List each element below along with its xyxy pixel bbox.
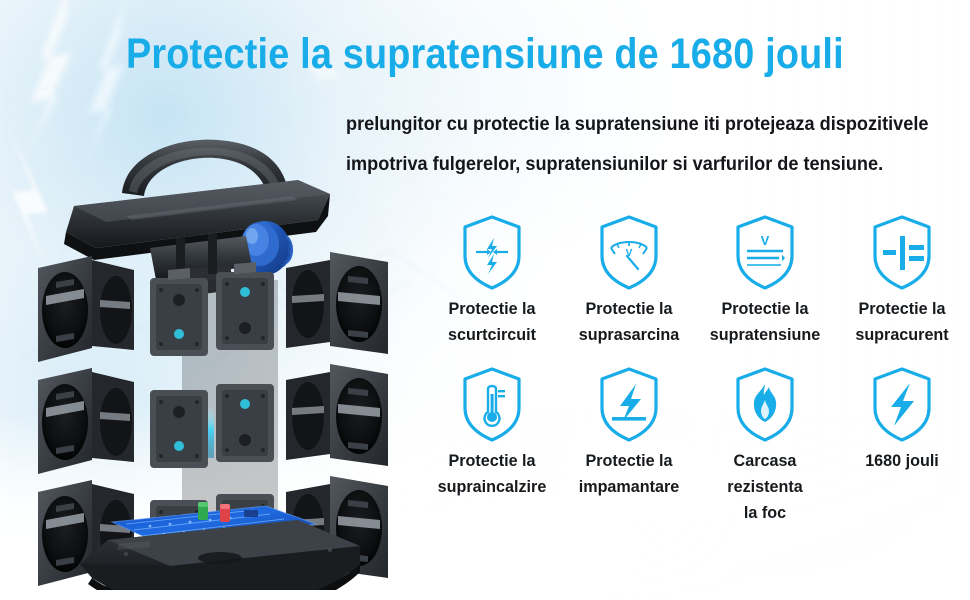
lightning-bolt-icon xyxy=(868,364,936,444)
feature-grid: Protectie la scurtcircuit V P xyxy=(424,212,970,526)
feature-label: 1680 jouli xyxy=(837,448,966,474)
page-subtitle-line-2: impotriva fulgerelor, supratensiunilor s… xyxy=(346,144,904,184)
feature-row-2: Protectie la supraincalzire Protectie la… xyxy=(424,364,970,526)
feature-label-line-2: supraincalzire xyxy=(428,474,557,500)
feature-label: Protectie la impamantare xyxy=(564,448,693,500)
page-subtitle: prelungitor cu protectie la supratensiun… xyxy=(346,104,946,184)
feature-label: Protectie la scurtcircuit xyxy=(428,296,557,348)
feature-label-line-2: supratensiune xyxy=(701,322,830,348)
feature-short-circuit[interactable]: Protectie la scurtcircuit xyxy=(424,212,561,348)
feature-grounding[interactable]: Protectie la impamantare xyxy=(561,364,698,526)
feature-row-1: Protectie la scurtcircuit V P xyxy=(424,212,970,348)
feature-label-line-2: scurtcircuit xyxy=(428,322,557,348)
feature-label-line-2: suprasarcina xyxy=(564,322,693,348)
feature-overload[interactable]: V Protectie la suprasarcina xyxy=(561,212,698,348)
overcurrent-icon xyxy=(868,212,936,292)
page-title: Protectie la supratensiune de 1680 jouli xyxy=(0,30,970,79)
feature-overcurrent[interactable]: Protectie la supracurent xyxy=(834,212,970,348)
overvoltage-icon: V xyxy=(731,212,799,292)
feature-label: Protectie la suprasarcina xyxy=(564,296,693,348)
grounding-bolt-icon xyxy=(595,364,663,444)
overload-gauge-icon: V xyxy=(595,212,663,292)
feature-label: Carcasa rezistenta la foc xyxy=(701,448,830,526)
feature-label: Protectie la supratensiune xyxy=(701,296,830,348)
feature-overvoltage[interactable]: V Protectie la supratensiune xyxy=(697,212,834,348)
thermometer-icon xyxy=(458,364,526,444)
feature-label-line-2: supracurent xyxy=(837,322,966,348)
feature-overheating[interactable]: Protectie la supraincalzire xyxy=(424,364,561,526)
feature-label: Protectie la supraincalzire xyxy=(428,448,557,500)
feature-label-line-2: impamantare xyxy=(564,474,693,500)
feature-joules[interactable]: 1680 jouli xyxy=(834,364,970,526)
feature-label-line-1: Protectie la xyxy=(564,296,693,322)
svg-text:V: V xyxy=(761,233,770,248)
feature-label-line-3: la foc xyxy=(701,500,830,526)
feature-label-line-1: Protectie la xyxy=(701,296,830,322)
product-image xyxy=(30,120,430,590)
feature-label-line-2: rezistenta xyxy=(701,474,830,500)
feature-label: Protectie la supracurent xyxy=(837,296,966,348)
short-circuit-icon xyxy=(458,212,526,292)
feature-label-line-1: 1680 jouli xyxy=(837,448,966,474)
feature-label-line-1: Protectie la xyxy=(428,296,557,322)
feature-label-line-1: Protectie la xyxy=(564,448,693,474)
feature-label-line-1: Protectie la xyxy=(428,448,557,474)
flame-icon xyxy=(731,364,799,444)
feature-label-line-1: Protectie la xyxy=(837,296,966,322)
feature-fire-resistant[interactable]: Carcasa rezistenta la foc xyxy=(697,364,834,526)
page-subtitle-line-1: prelungitor cu protectie la supratensiun… xyxy=(346,104,904,144)
page-title-text: Protectie la supratensiune de 1680 jouli xyxy=(126,30,844,79)
feature-label-line-1: Carcasa xyxy=(701,448,830,474)
